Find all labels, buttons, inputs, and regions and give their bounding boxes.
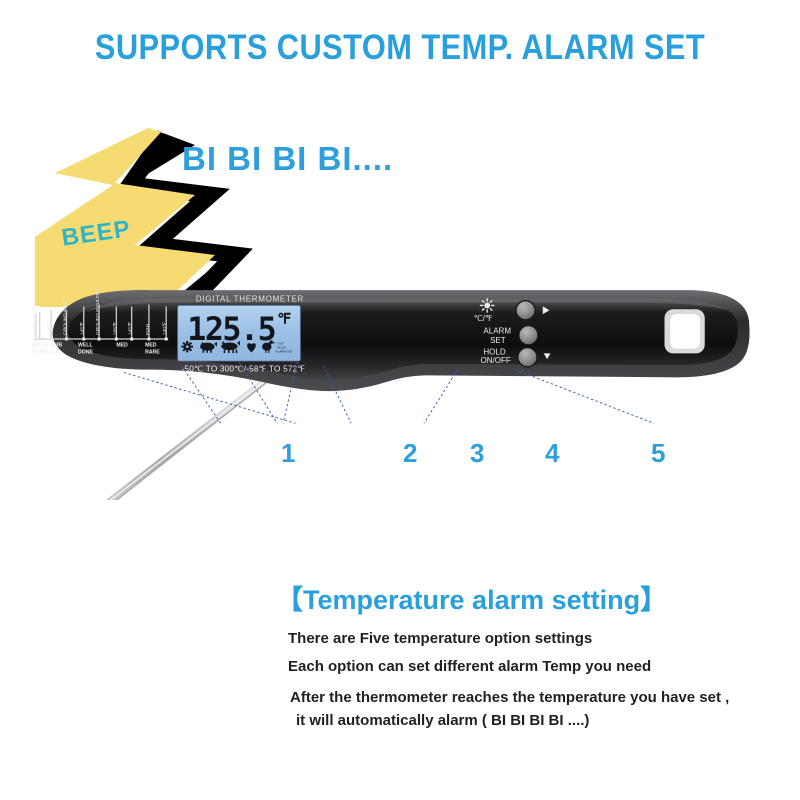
callout-number-1: 1 xyxy=(281,438,295,469)
body-line-4: it will automatically alarm ( BI BI BI B… xyxy=(296,712,589,729)
body-line-3: After the thermometer reaches the temper… xyxy=(290,689,729,706)
brand-label: DIGITAL THERMOMETER xyxy=(196,295,304,304)
callout-number-2: 2 xyxy=(403,438,417,469)
body-line-2: Each option can set different alarm Temp… xyxy=(288,658,651,675)
alarm-set-button[interactable] xyxy=(519,326,538,345)
guide-group-label-0: BEEF/LAMB xyxy=(32,343,62,349)
guide-vlabel-2: GROUND MEAT xyxy=(62,298,68,335)
page-title: SUPPORTS CUSTOM TEMP. ALARM SET xyxy=(48,28,752,68)
guide-group-label-1: WELL xyxy=(78,343,93,349)
guide-vlabel-3: 145℉ xyxy=(80,322,86,335)
alarm-set-label-1: ALARM xyxy=(483,326,511,335)
callout-number-5: 5 xyxy=(651,438,665,469)
alarm-set-label-2: SET xyxy=(490,336,506,345)
guide-group-label-0b: PORK/VEAL xyxy=(32,349,62,355)
infographic-canvas: SUPPORTS CUSTOM TEMP. ALARM SET BEEP BI … xyxy=(0,0,800,800)
sun-icon xyxy=(481,299,494,312)
guide-vlabel-0: PORK 167℉ xyxy=(32,306,38,335)
range-label: -50℃ TO 300℃/-58℉ TO 572℉ xyxy=(182,365,306,374)
hold-onoff-label-1: HOLD xyxy=(483,347,506,356)
section-heading: 【Temperature alarm setting】 xyxy=(276,578,667,617)
guide-vlabel-8: 130℉ xyxy=(162,322,168,335)
guide-vlabel-4: GROUND POULTRY xyxy=(95,288,101,335)
guide-vlabel-6: 145℉ xyxy=(128,322,134,335)
lcd-unit: ℉ xyxy=(277,312,291,328)
guide-vlabel-7: FISH xyxy=(145,323,151,335)
hanging-hole xyxy=(665,309,705,353)
digital-thermometer-device: PORK 167℉ 145℉ GROUND MEAT 145℉ GROUND P… xyxy=(0,270,800,500)
guide-group-label-3b: RARE xyxy=(145,349,160,355)
leader-line-2 xyxy=(182,366,221,423)
celsius-fahrenheit-button[interactable] xyxy=(516,301,535,320)
guide-vlabel-5: 155℉ xyxy=(112,322,118,335)
leader-line-7 xyxy=(515,370,654,424)
bi-alarm-label: BI BI BI BI.... xyxy=(182,140,393,178)
body-line-1: There are Five temperature option settin… xyxy=(288,630,592,647)
guide-group-label-2: MED xyxy=(116,343,128,349)
guide-group-label-1b: DONE xyxy=(78,349,93,355)
lcd-screen: 125.5 ℉ xyxy=(178,305,301,361)
guide-group-label-3: MED xyxy=(145,343,157,349)
hold-onoff-button[interactable] xyxy=(518,348,537,367)
celsius-fahrenheit-label: ℃/℉ xyxy=(474,314,493,323)
callout-number-3: 3 xyxy=(470,438,484,469)
hold-onoff-label-2: ON/OFF xyxy=(480,356,510,365)
callout-number-4: 4 xyxy=(545,438,559,469)
guide-vlabel-1: 145℉ xyxy=(47,322,53,335)
lcd-mode-2: ALARM SET xyxy=(275,349,292,353)
leader-line-6 xyxy=(424,370,458,424)
gear-icon xyxy=(182,341,194,353)
